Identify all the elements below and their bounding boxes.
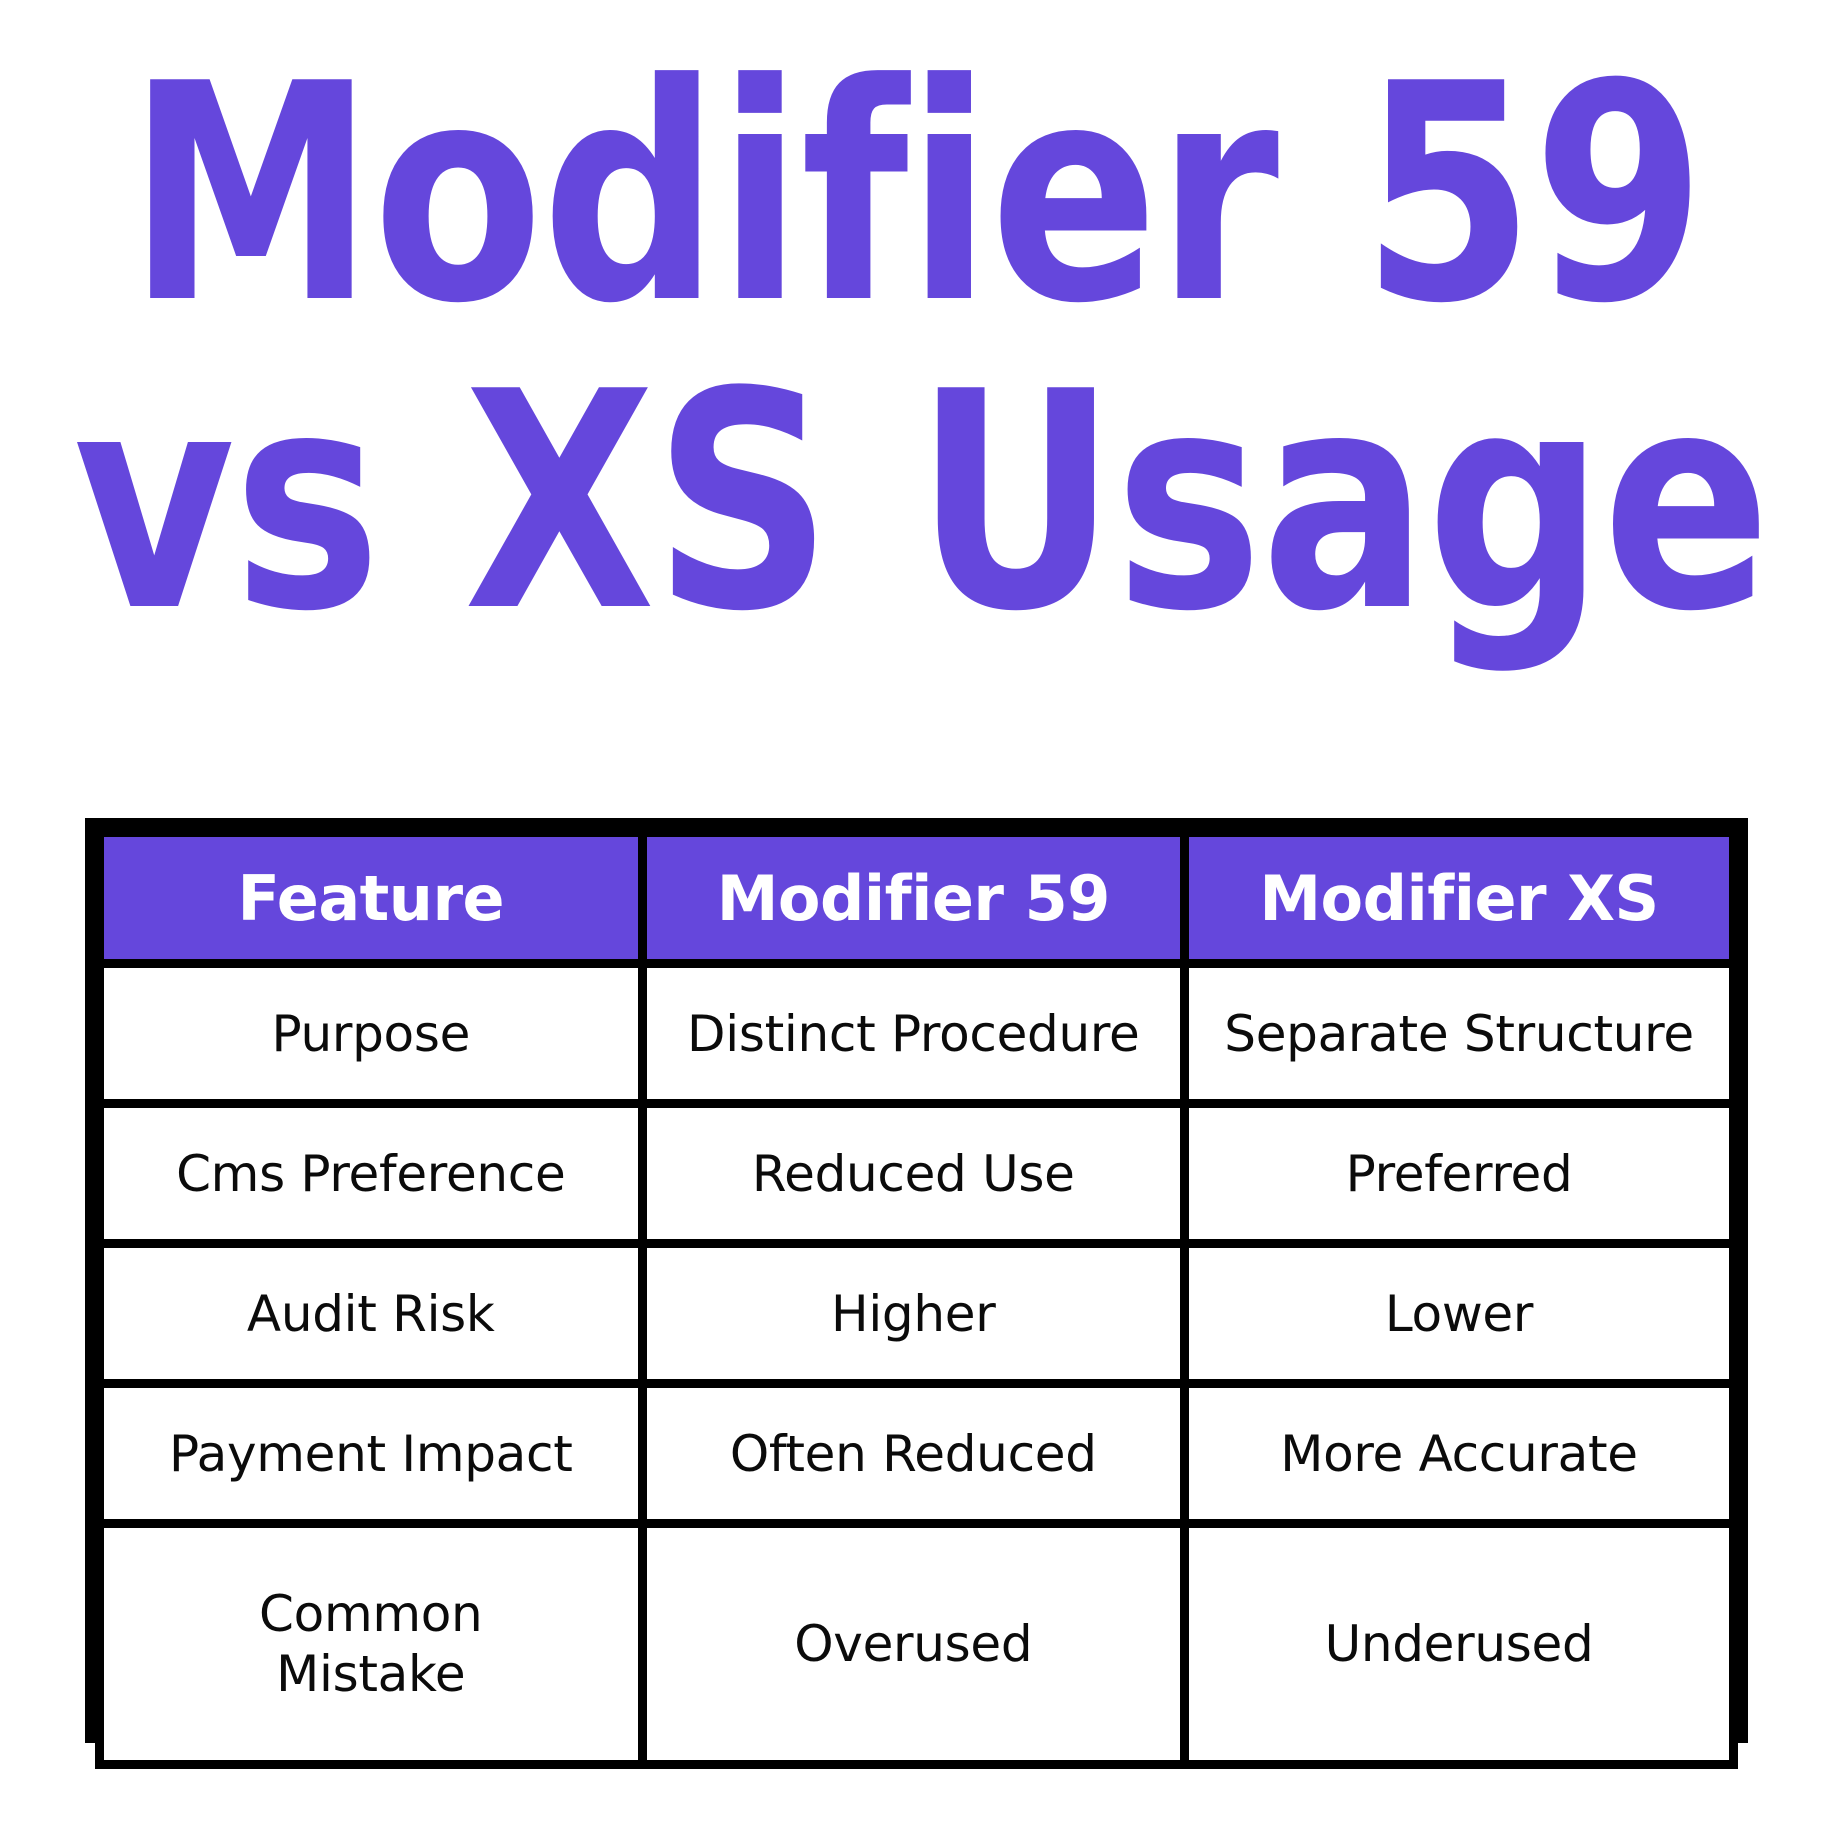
cell-modifierxs-audit-risk: Lower — [1189, 1248, 1729, 1379]
cell-modifier59-common-mistake: Overused — [647, 1528, 1181, 1760]
cell-modifier59-cms-preference: Reduced Use — [647, 1108, 1181, 1239]
cell-modifier59-payment-impact: Often Reduced — [647, 1388, 1181, 1519]
cell-feature-cms-preference: Cms Preference — [104, 1108, 638, 1239]
cell-modifierxs-cms-preference: Preferred — [1189, 1108, 1729, 1239]
cell-feature-audit-risk: Audit Risk — [104, 1248, 638, 1379]
table-row: Purpose Distinct Procedure Separate Stru… — [104, 968, 1729, 1099]
table-header-row: Feature Modifier 59 Modifier XS — [104, 837, 1729, 959]
comparison-table-container: Feature Modifier 59 Modifier XS Purpose … — [85, 818, 1748, 1743]
table-row: Payment Impact Often Reduced More Accura… — [104, 1388, 1729, 1519]
column-header-feature: Feature — [104, 837, 638, 959]
cell-feature-purpose: Purpose — [104, 968, 638, 1099]
page-title-line-2: vs XS Usage — [73, 356, 1758, 650]
cell-modifier59-purpose: Distinct Procedure — [647, 968, 1181, 1099]
cell-feature-common-mistake: CommonMistake — [104, 1528, 638, 1760]
table-row: Cms Preference Reduced Use Preferred — [104, 1108, 1729, 1239]
column-header-modifier-xs: Modifier XS — [1189, 837, 1729, 959]
cell-modifierxs-purpose: Separate Structure — [1189, 968, 1729, 1099]
table-header: Feature Modifier 59 Modifier XS — [104, 837, 1729, 959]
comparison-table: Feature Modifier 59 Modifier XS Purpose … — [95, 828, 1738, 1769]
cell-modifier59-audit-risk: Higher — [647, 1248, 1181, 1379]
table-row: Audit Risk Higher Lower — [104, 1248, 1729, 1379]
column-header-modifier-59: Modifier 59 — [647, 837, 1181, 959]
infographic-page: Modifier 59 vs XS Usage Feature Modifier… — [0, 0, 1831, 1831]
table-body: Purpose Distinct Procedure Separate Stru… — [104, 968, 1729, 1760]
cell-modifierxs-payment-impact: More Accurate — [1189, 1388, 1729, 1519]
cell-feature-payment-impact: Payment Impact — [104, 1388, 638, 1519]
cell-modifierxs-common-mistake: Underused — [1189, 1528, 1729, 1760]
table-row: CommonMistake Overused Underused — [104, 1528, 1729, 1760]
page-title-line-1: Modifier 59 — [73, 48, 1758, 342]
page-title: Modifier 59 vs XS Usage — [0, 48, 1831, 650]
